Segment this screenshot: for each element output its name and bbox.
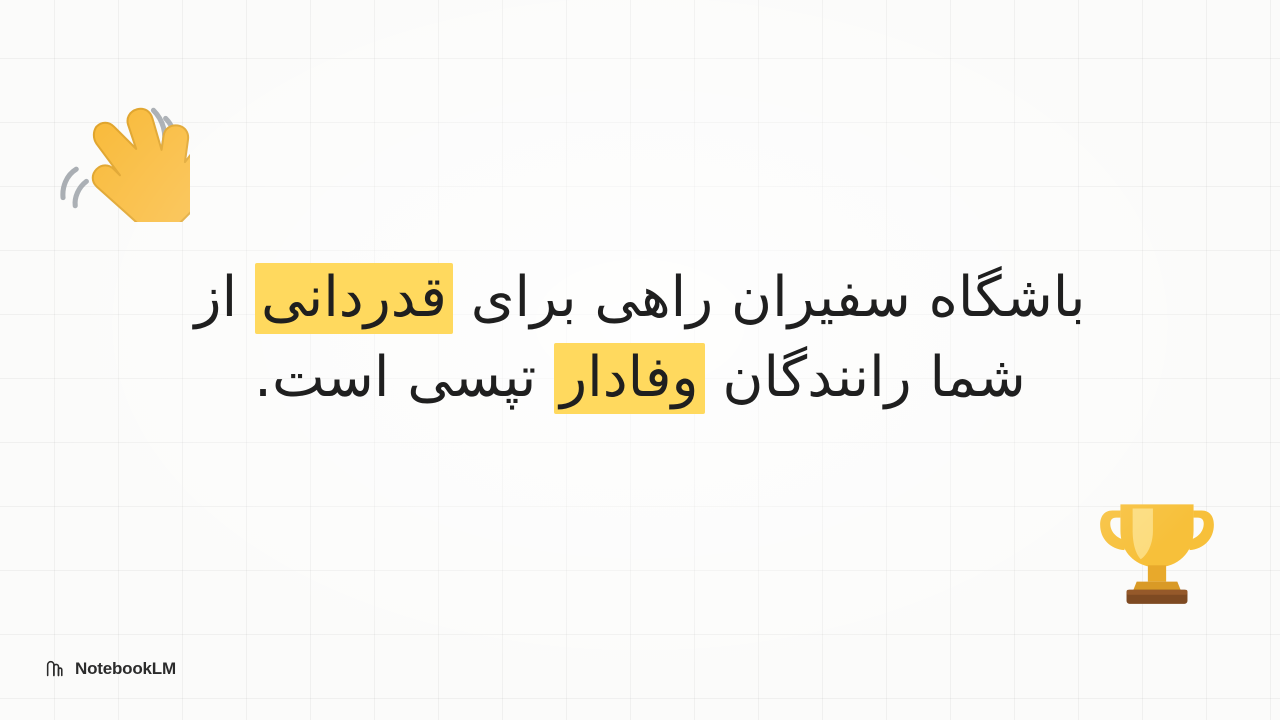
headline-highlight-1: قدردانی <box>255 263 453 334</box>
slide-canvas: باشگاه سفیران راهی برای قدردانی از شما ر… <box>0 0 1280 720</box>
brand-name: NotebookLM <box>75 659 176 679</box>
brand-watermark: NotebookLM <box>44 658 176 680</box>
trophy-emoji <box>1092 480 1222 610</box>
headline-text: باشگاه سفیران راهی برای قدردانی از شما ر… <box>0 258 1280 417</box>
notebooklm-logo-icon <box>44 658 66 680</box>
headline-highlight-2: وفادار <box>554 343 704 414</box>
waving-hand-emoji <box>60 92 190 222</box>
headline-line2-part2: تپسی است. <box>254 345 554 410</box>
headline-line1-part1: باشگاه سفیران راهی برای <box>453 265 1086 330</box>
